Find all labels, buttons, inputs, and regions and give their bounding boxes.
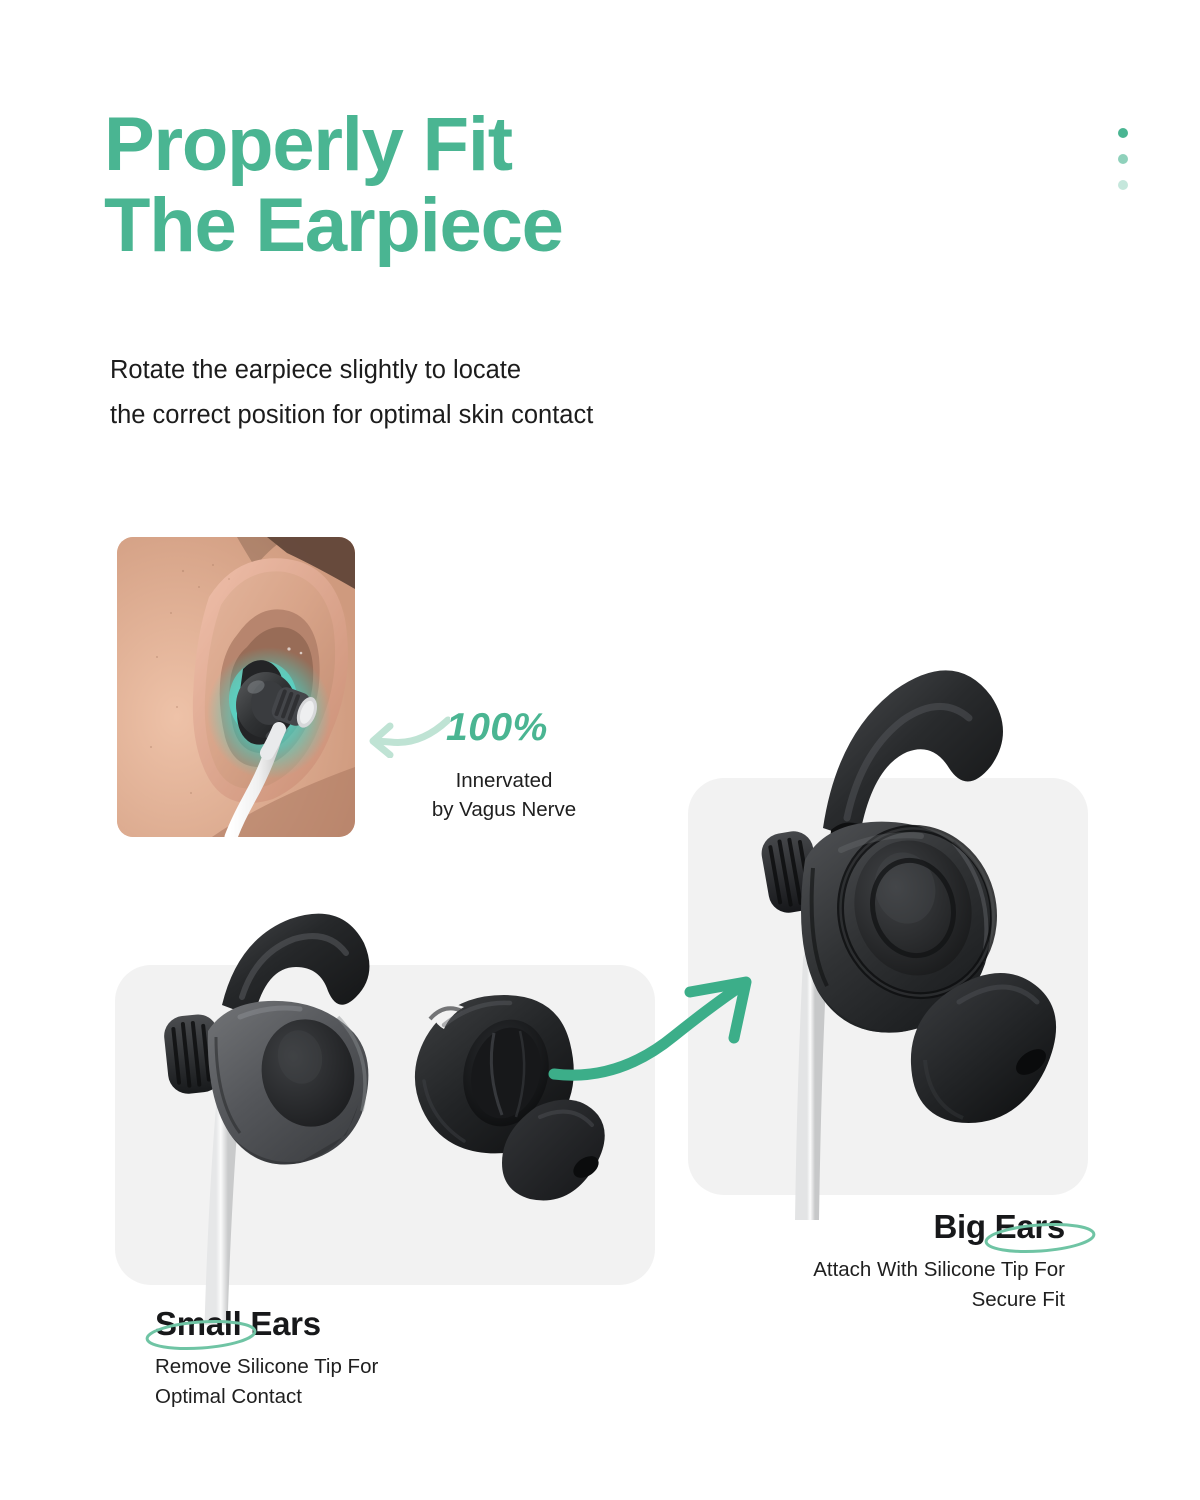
- infographic-page: Properly Fit The Earpiece Rotate the ear…: [0, 0, 1200, 1500]
- page-subtitle: Rotate the earpiece slightly to locate t…: [110, 348, 870, 439]
- dot-1: [1118, 128, 1128, 138]
- big-ears-card: [688, 778, 1088, 1195]
- highlight-swoosh-icon: [982, 1221, 1098, 1255]
- big-ears-heading: Big Ears: [934, 1208, 1066, 1246]
- callout-description: Innervated by Vagus Nerve: [360, 766, 620, 824]
- vagus-nerve-callout: 100% Innervated by Vagus Nerve: [360, 706, 620, 824]
- highlight-swoosh-icon: [143, 1318, 259, 1352]
- big-ears-caption: Big Ears Attach With Silicone Tip For Se…: [700, 1208, 1065, 1315]
- ear-photo: [117, 537, 355, 837]
- small-ears-caption: Small Ears Remove Silicone Tip For Optim…: [155, 1305, 555, 1412]
- ear-photo-illustration: [117, 537, 355, 837]
- three-dots-vertical-icon: [1118, 128, 1128, 190]
- small-ears-body: Remove Silicone Tip For Optimal Contact: [155, 1352, 555, 1412]
- percent-value: 100%: [446, 706, 548, 750]
- page-title: Properly Fit The Earpiece: [104, 104, 804, 267]
- big-ears-body: Attach With Silicone Tip For Secure Fit: [700, 1255, 1065, 1315]
- curved-arrow-left-icon: [360, 712, 450, 758]
- dot-2: [1118, 154, 1128, 164]
- dot-3: [1118, 180, 1128, 190]
- small-ears-card: [115, 965, 655, 1285]
- small-ears-heading: Small Ears: [155, 1305, 321, 1343]
